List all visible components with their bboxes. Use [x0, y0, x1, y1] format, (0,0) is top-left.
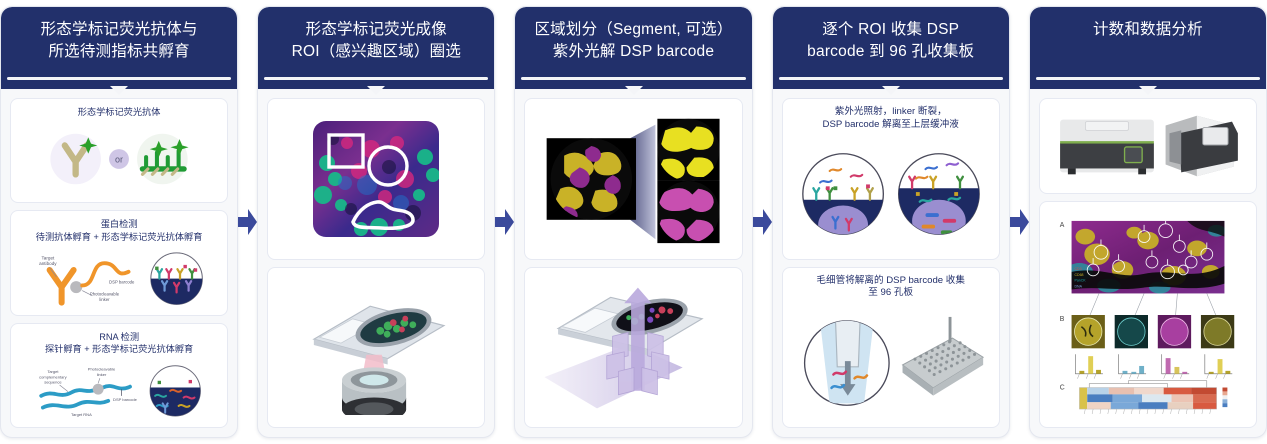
right-arrow-icon: [753, 209, 772, 235]
antibody-dsp-barcode-icon: Target antibody DSP barcode Photocleavab…: [17, 246, 221, 309]
card-capillary-collection[interactable]: 毛细管将解离的 DSP barcode 收集 至 96 孔板: [782, 267, 1000, 429]
cleavage-two-wells-icon: [789, 135, 993, 254]
card-rna-detection[interactable]: RNA 检测 探针孵育 + 形态学标记荧光抗体孵育 Target complem…: [10, 323, 228, 428]
svg-text:sequence: sequence: [44, 380, 62, 385]
header-notch-icon: [882, 86, 900, 95]
step-2-header: 形态学标记荧光成像 ROI（感兴趣区域）圈选: [258, 7, 494, 89]
step-1-title: 形态学标记荧光抗体与 所选待测指标共孵育: [41, 19, 198, 64]
card-uv-illumination[interactable]: [524, 267, 742, 429]
sequencer-and-ncounter-icon: [1046, 104, 1250, 188]
right-arrow-icon: [495, 209, 514, 235]
svg-text:Target: Target: [41, 256, 55, 261]
header-notch-icon: [367, 86, 385, 95]
arrow-4-5-cell: [1010, 0, 1029, 444]
workflow-step-2[interactable]: 形态学标记荧光成像 ROI（感兴趣区域）圈选: [257, 6, 495, 438]
right-arrow-icon: [1010, 209, 1029, 235]
svg-text:A: A: [1060, 221, 1065, 228]
svg-text:DSP barcode: DSP barcode: [109, 280, 135, 285]
step-5-body: A: [1030, 89, 1266, 437]
arrow-2-3-cell: [495, 0, 514, 444]
card-capillary-collection-caption: 毛细管将解离的 DSP barcode 收集 至 96 孔板: [816, 275, 965, 301]
slide-on-objective-icon: [274, 273, 478, 423]
card-morphology-marker-caption: 形态学标记荧光抗体: [78, 106, 161, 118]
card-segmentation[interactable]: [524, 98, 742, 260]
svg-text:CD3: CD3: [1074, 266, 1081, 270]
step-3-title: 区域划分（Segment, 可选） 紫外光解 DSP barcode: [534, 19, 732, 64]
svg-text:or: or: [115, 155, 123, 165]
card-microscope-objective[interactable]: [267, 267, 485, 429]
step-1-body: 形态学标记荧光抗体: [1, 89, 237, 437]
card-uv-cleavage[interactable]: 紫外光照射，linker 断裂， DSP barcode 解离至上层缓冲液: [782, 98, 1000, 260]
step-1-header: 形态学标记荧光抗体与 所选待测指标共孵育: [1, 7, 237, 89]
svg-text:linker: linker: [99, 297, 110, 302]
card-roi-selection-image[interactable]: [267, 98, 485, 260]
header-notch-icon: [1139, 86, 1157, 95]
rna-probe-dsp-barcode-icon: Target complementary sequence Photocleav…: [17, 359, 221, 422]
step-3-body: [515, 89, 751, 437]
card-protein-detection-caption: 蛋白检测 待测抗体孵育 + 形态学标记荧光抗体孵育: [36, 218, 203, 243]
step-4-title: 逐个 ROI 收集 DSP barcode 到 96 孔收集板: [807, 19, 974, 64]
workflow-step-4[interactable]: 逐个 ROI 收集 DSP barcode 到 96 孔收集板 紫外光照射，li…: [772, 6, 1010, 438]
workflow-step-3[interactable]: 区域划分（Segment, 可选） 紫外光解 DSP barcode: [514, 6, 752, 438]
fluorescence-tissue-roi-icon: [274, 104, 478, 254]
step-3-header: 区域划分（Segment, 可选） 紫外光解 DSP barcode: [515, 7, 751, 89]
svg-text:PanCK: PanCK: [1074, 278, 1086, 282]
step-2-title: 形态学标记荧光成像 ROI（感兴趣区域）圈选: [292, 19, 461, 64]
step-4-header: 逐个 ROI 收集 DSP barcode 到 96 孔收集板: [773, 7, 1009, 89]
workflow-step-5[interactable]: 计数和数据分析: [1029, 6, 1267, 438]
svg-text:B: B: [1060, 315, 1065, 322]
card-analysis-figure[interactable]: A: [1039, 201, 1257, 428]
card-uv-cleavage-caption: 紫外光照射，linker 断裂， DSP barcode 解离至上层缓冲液: [823, 106, 959, 132]
step-5-header: 计数和数据分析: [1030, 7, 1266, 89]
header-separator: [1036, 77, 1260, 80]
step-2-body: [258, 89, 494, 437]
uv-beam-slide-icon: [531, 273, 735, 423]
svg-text:C: C: [1060, 384, 1065, 391]
svg-text:Target RNA: Target RNA: [71, 412, 92, 417]
card-instruments[interactable]: [1039, 98, 1257, 194]
multipanel-analysis-figure-icon: A: [1046, 207, 1250, 422]
header-notch-icon: [625, 86, 643, 95]
header-separator: [7, 77, 231, 80]
right-arrow-icon: [238, 209, 257, 235]
header-notch-icon: [110, 86, 128, 95]
svg-text:linker: linker: [97, 372, 107, 377]
workflow-step-1[interactable]: 形态学标记荧光抗体与 所选待测指标共孵育 形态学标记荧光抗体: [0, 6, 238, 438]
header-separator: [521, 77, 745, 80]
capillary-and-96-well-plate-icon: [789, 303, 993, 422]
roi-segmentation-masks-icon: [531, 104, 735, 254]
card-protein-detection[interactable]: 蛋白检测 待测抗体孵育 + 形态学标记荧光抗体孵育 Target antibod…: [10, 210, 228, 315]
svg-text:antibody: antibody: [39, 261, 57, 266]
header-separator: [779, 77, 1003, 80]
arrow-1-2-cell: [238, 0, 257, 444]
svg-text:DNA: DNA: [1074, 284, 1082, 288]
step-4-body: 紫外光照射，linker 断裂， DSP barcode 解离至上层缓冲液: [773, 89, 1009, 437]
svg-text:CD68: CD68: [1074, 272, 1083, 276]
step-5-title: 计数和数据分析: [1093, 19, 1203, 41]
workflow-diagram: 形态学标记荧光抗体与 所选待测指标共孵育 形态学标记荧光抗体: [0, 0, 1267, 444]
svg-text:Photocleavable: Photocleavable: [90, 292, 120, 297]
svg-text:DSP barcode: DSP barcode: [113, 397, 138, 402]
arrow-3-4-cell: [753, 0, 772, 444]
card-rna-detection-caption: RNA 检测 探针孵育 + 形态学标记荧光抗体孵育: [45, 331, 193, 356]
card-morphology-marker[interactable]: 形态学标记荧光抗体: [10, 98, 228, 203]
header-separator: [264, 77, 488, 80]
antibody-or-probe-icon: or: [17, 121, 221, 197]
